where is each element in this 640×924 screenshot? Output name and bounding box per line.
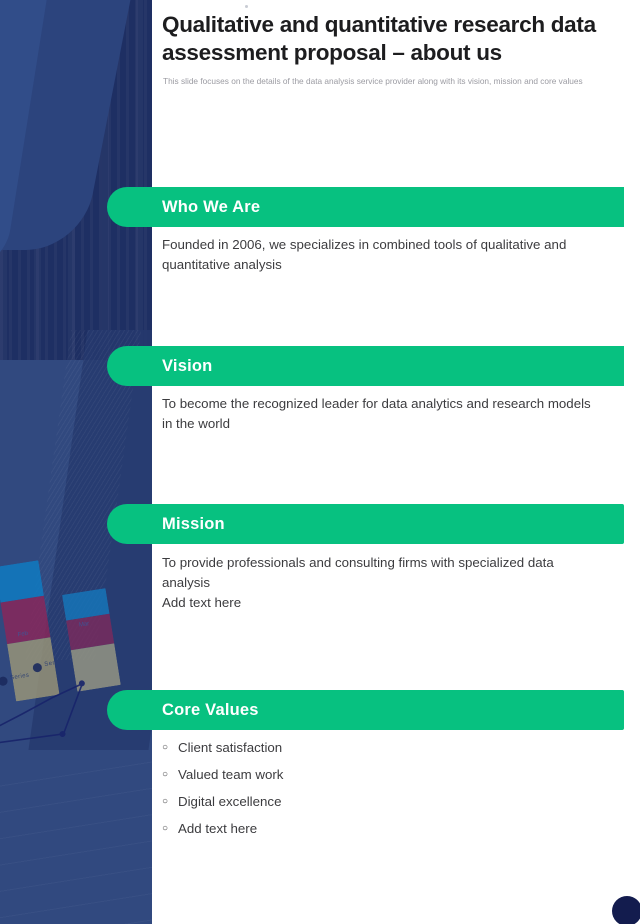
section-body-who-we-are: Founded in 2006, we specializes in combi… (162, 235, 592, 275)
decorative-sidebar: Series Jan Feb Mar Series (0, 0, 152, 924)
list-item-label: Valued team work (178, 767, 283, 782)
section-header-who-we-are: Who We Are (107, 187, 624, 227)
section-header-label: Core Values (162, 701, 259, 720)
bullet-circle-icon: ○ (162, 742, 178, 753)
list-item: ○ Valued team work (162, 761, 592, 788)
page-subtitle: This slide focuses on the details of the… (163, 75, 608, 88)
list-item: ○ Add text here (162, 815, 592, 842)
section-header-mission: Mission (107, 504, 624, 544)
list-item: ○ Client satisfaction (162, 734, 592, 761)
section-header-label: Who We Are (162, 198, 260, 217)
corner-accent-dot (612, 896, 640, 924)
decorative-dot-icon (245, 5, 248, 8)
list-item-label: Client satisfaction (178, 740, 282, 755)
bullet-circle-icon: ○ (162, 796, 178, 807)
page-title: Qualitative and quantitative research da… (162, 11, 612, 67)
section-header-vision: Vision (107, 346, 624, 386)
core-values-list: ○ Client satisfaction ○ Valued team work… (162, 734, 592, 842)
section-header-core-values: Core Values (107, 690, 624, 730)
section-header-label: Mission (162, 515, 225, 534)
section-body-mission: To provide professionals and consulting … (162, 553, 592, 613)
bullet-circle-icon: ○ (162, 769, 178, 780)
list-item: ○ Digital excellence (162, 788, 592, 815)
bullet-circle-icon: ○ (162, 823, 178, 834)
list-item-label: Add text here (178, 821, 257, 836)
section-body-vision: To become the recognized leader for data… (162, 394, 592, 434)
slide-canvas: Series Jan Feb Mar Series (0, 0, 640, 924)
sidebar-grid-ghost (0, 745, 152, 924)
list-item-label: Digital excellence (178, 794, 281, 809)
section-header-label: Vision (162, 357, 212, 376)
